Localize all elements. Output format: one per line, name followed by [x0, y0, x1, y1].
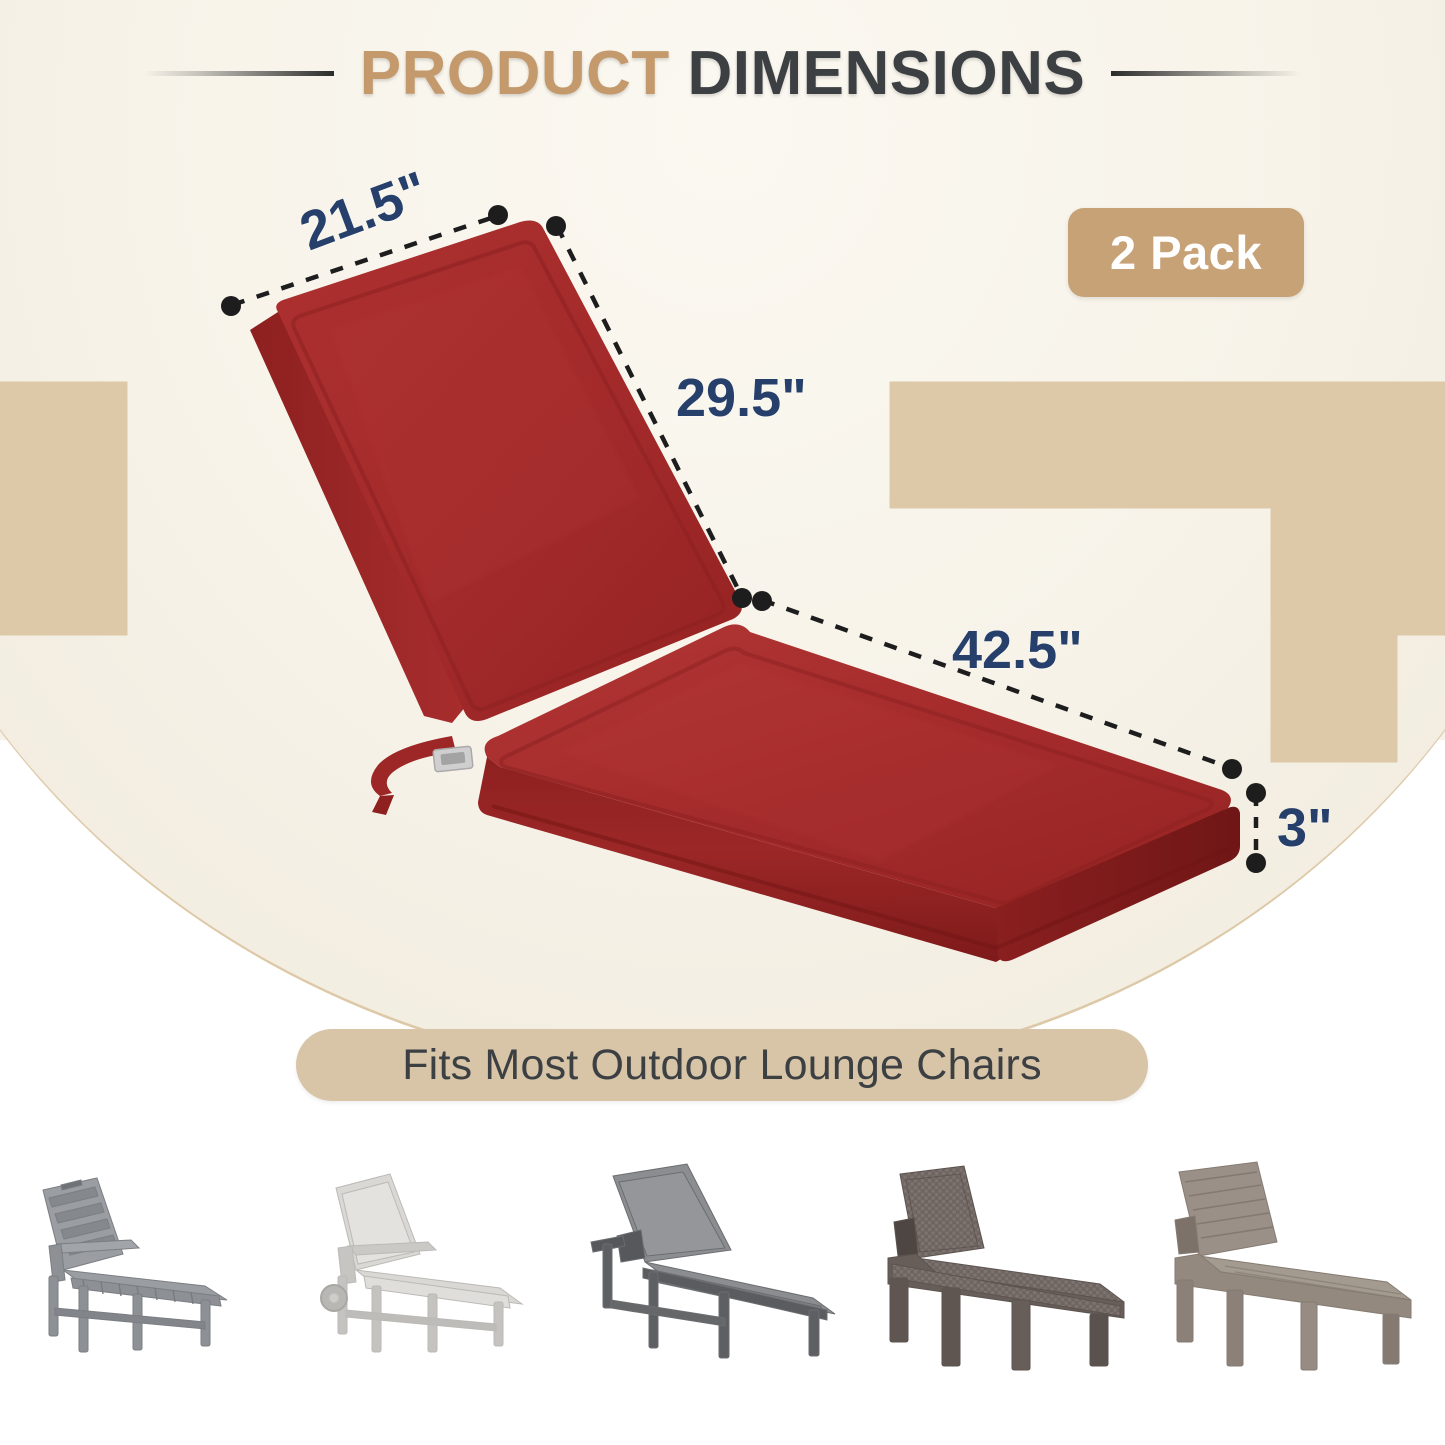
cushion-backrest: [250, 220, 742, 723]
compatibility-banner: Fits Most Outdoor Lounge Chairs: [296, 1029, 1148, 1101]
resin-wood-lounge-chair-icon: [1161, 1158, 1441, 1398]
dimension-label-seat: 42.5": [952, 619, 1083, 681]
tie-strap: [371, 736, 473, 815]
sling-wheeled-lounge-chair-icon: [294, 1158, 574, 1398]
dot-seat-end: [1222, 759, 1242, 779]
chair-item-3: [578, 1128, 867, 1428]
dot-width-start: [221, 296, 241, 316]
strap-tail: [372, 795, 394, 815]
dot-backrest-start: [546, 216, 566, 236]
compatible-chairs-row: [0, 1128, 1445, 1428]
dimension-label-backrest: 29.5": [676, 367, 807, 429]
slatted-poly-lounge-chair-icon: [5, 1158, 285, 1398]
dot-seat-start: [752, 591, 772, 611]
dot-backrest-end: [732, 588, 752, 608]
chair-item-2: [289, 1128, 578, 1428]
dot-thickness-top: [1246, 783, 1266, 803]
compatibility-banner-text: Fits Most Outdoor Lounge Chairs: [402, 1041, 1042, 1090]
dot-width-end: [488, 205, 508, 225]
dimension-label-thickness: 3": [1277, 797, 1333, 859]
infographic-canvas: PRODUCT DIMENSIONS 2 Pack: [0, 0, 1445, 1445]
chair-item-5: [1156, 1128, 1445, 1428]
chair-item-4: [867, 1128, 1156, 1428]
aluminum-sling-lounge-chair-icon: [583, 1158, 863, 1398]
wicker-rattan-lounge-chair-icon: [872, 1158, 1152, 1398]
chair-item-1: [0, 1128, 289, 1428]
dot-thickness-bottom: [1246, 853, 1266, 873]
product-illustration: [0, 0, 1445, 1010]
